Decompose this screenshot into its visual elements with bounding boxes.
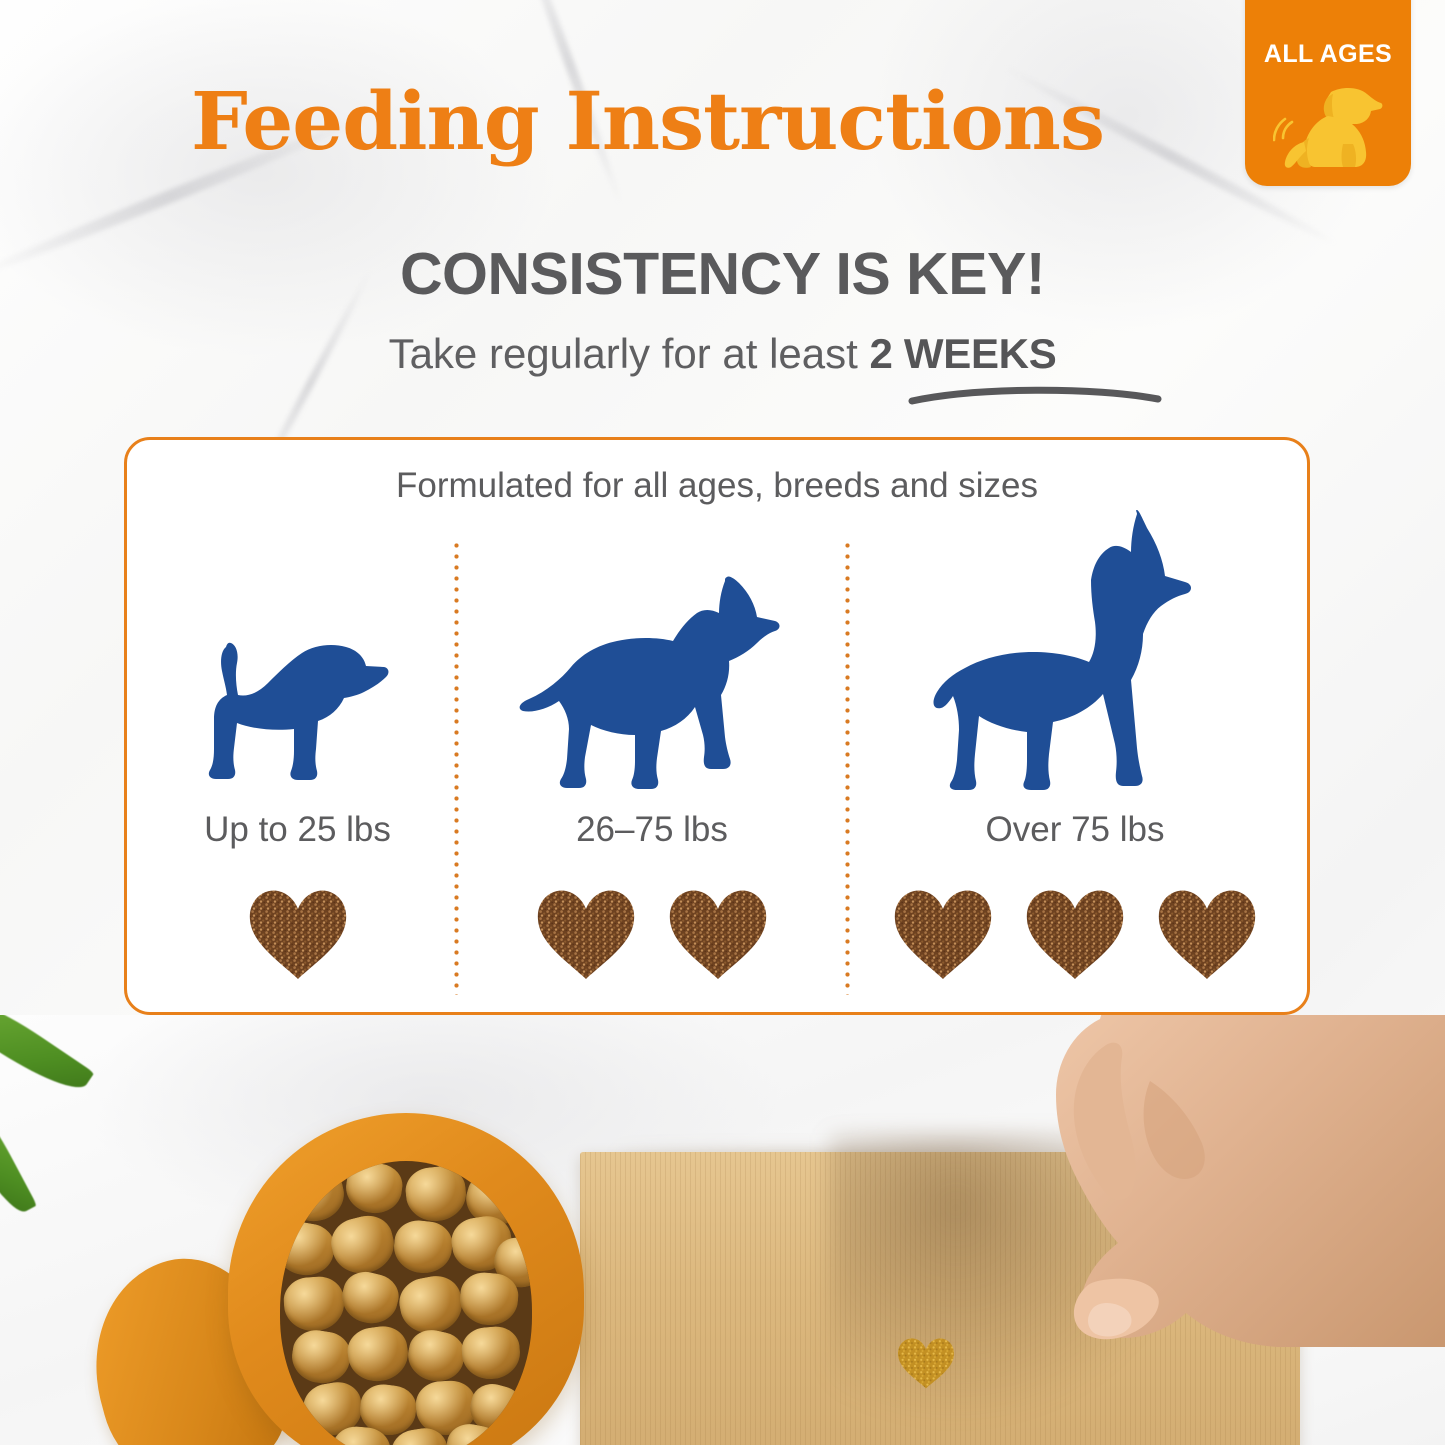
treat-row-medium [459, 882, 845, 982]
subheadline-prefix: Take regularly for at least [389, 330, 870, 377]
subheadline: Take regularly for at least 2 WEEKS [0, 330, 1445, 378]
feeding-chart-card: Formulated for all ages, breeds and size… [124, 437, 1310, 1015]
size-label-medium: 26–75 lbs [459, 810, 845, 850]
single-kibble-treat [895, 1333, 957, 1391]
size-label-small: Up to 25 lbs [141, 810, 454, 850]
page-title: Feeding Instructions [0, 74, 1445, 168]
headline: CONSISTENCY IS KEY! [0, 240, 1445, 308]
duration-emphasis: 2 WEEKS [869, 330, 1056, 377]
medium-dog-illustration [459, 540, 845, 790]
all-ages-badge: ALL AGES [1245, 0, 1411, 186]
treat-kibble [532, 882, 640, 982]
size-column-small: Up to 25 lbs [141, 500, 454, 1000]
treat-kibble [664, 882, 772, 982]
treat-row-small [141, 882, 454, 982]
product-photo [0, 1015, 1445, 1445]
small-dog-silhouette-icon [190, 625, 405, 790]
treat-kibble [889, 882, 997, 982]
treat-kibble [1153, 882, 1261, 982]
size-column-medium: 26–75 lbs [459, 500, 845, 1000]
bowl-interior [280, 1161, 532, 1445]
large-dog-silhouette-icon [915, 510, 1235, 790]
medium-dog-silhouette-icon [507, 575, 797, 790]
treat-kibble [1021, 882, 1129, 982]
large-dog-illustration [850, 540, 1300, 790]
size-label-large: Over 75 lbs [850, 810, 1300, 850]
small-dog-illustration [141, 540, 454, 790]
sitting-dog-icon [1273, 78, 1383, 170]
all-ages-badge-label: ALL AGES [1245, 40, 1411, 69]
treat-row-large [850, 882, 1300, 982]
treat-kibble [244, 882, 352, 982]
size-column-large: Over 75 lbs [850, 500, 1300, 1000]
underline-swoosh-icon [908, 382, 1162, 408]
